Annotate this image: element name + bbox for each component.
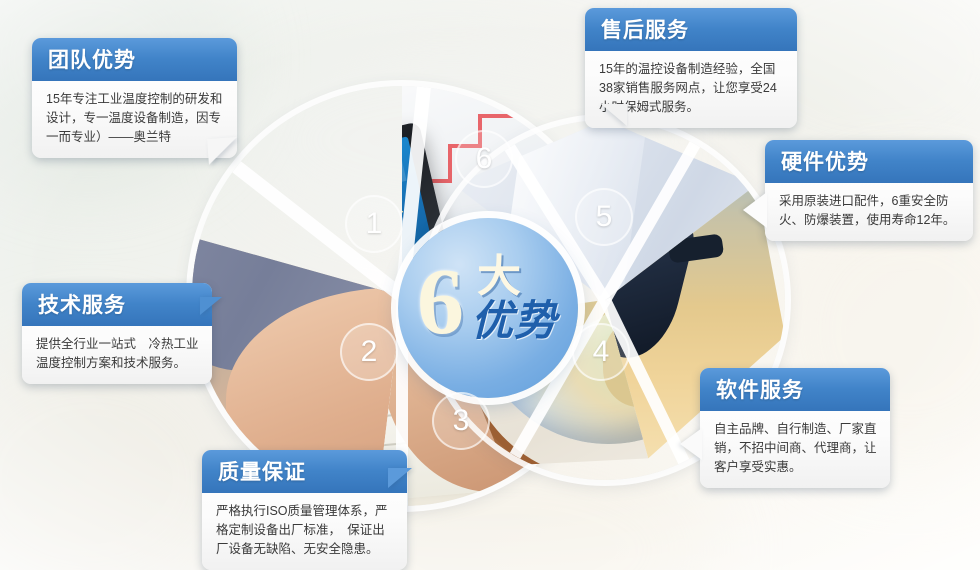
badge-number-4[interactable]: 4 — [572, 323, 630, 381]
badge-label: 1 — [366, 207, 383, 241]
screen-header-bar — [248, 146, 401, 189]
badge-label: 2 — [361, 335, 378, 369]
callout-hardware-body: 采用原装进口配件，6重安全防火、防爆装置，使用寿命12年。 — [765, 183, 973, 241]
badge-number-2[interactable]: 2 — [340, 323, 398, 381]
callout-software-body: 自主品牌、自行制造、厂家直销，不招中间商、代理商，让客户享受实惠。 — [700, 411, 890, 488]
callout-hardware-advantage[interactable]: 硬件优势 采用原装进口配件，6重安全防火、防爆装置，使用寿命12年。 — [765, 140, 973, 241]
center-logo-inner: 6 大 优势 — [413, 253, 563, 363]
callout-technical-service[interactable]: 技术服务 提供全行业一站式 冷热工业温度控制方案和技术服务。 — [22, 283, 212, 384]
center-number: 6 — [417, 255, 464, 349]
callout-after-sales-title: 售后服务 — [585, 8, 797, 51]
badge-label: 6 — [476, 142, 493, 176]
callout-hardware-tail — [743, 192, 767, 228]
badge-number-3[interactable]: 3 — [432, 392, 490, 450]
callout-software-tail — [680, 428, 702, 460]
screen-side-panel — [340, 158, 407, 194]
callout-team-body: 15年专注工业温度控制的研发和设计，专一温度设备制造，因专一而专业）——奥兰特 — [32, 81, 237, 158]
callout-after-sales-tail — [601, 104, 627, 126]
callout-team-title: 团队优势 — [32, 38, 237, 81]
callout-software-service[interactable]: 软件服务 自主品牌、自行制造、厂家直销，不招中间商、代理商，让客户享受实惠。 — [700, 368, 890, 488]
badge-label: 5 — [596, 200, 613, 234]
callout-software-title: 软件服务 — [700, 368, 890, 411]
badge-number-1[interactable]: 1 — [345, 195, 403, 253]
badge-number-6[interactable]: 6 — [455, 130, 513, 188]
center-big-char: 大 — [477, 255, 521, 299]
callout-after-sales[interactable]: 售后服务 15年的温控设备制造经验，全国38家销售服务网点，让您享受24小时保姆… — [585, 8, 797, 128]
callout-quality-assurance[interactable]: 质量保证 严格执行ISO质量管理体系，严格定制设备出厂标准， 保证出厂设备无缺陷… — [202, 450, 407, 570]
callout-quality-body: 严格执行ISO质量管理体系，严格定制设备出厂标准， 保证出厂设备无缺陷、无安全隐… — [202, 493, 407, 570]
callout-quality-tail — [388, 468, 412, 488]
callout-technical-body: 提供全行业一站式 冷热工业温度控制方案和技术服务。 — [22, 326, 212, 384]
callout-technical-tail — [200, 297, 222, 315]
callout-quality-title: 质量保证 — [202, 450, 407, 493]
callout-team-tail — [207, 137, 239, 165]
badge-label: 4 — [593, 335, 610, 369]
callout-technical-title: 技术服务 — [22, 283, 212, 326]
callout-hardware-title: 硬件优势 — [765, 140, 973, 183]
screen-ticker-label: INTC — [260, 219, 279, 230]
badge-label: 3 — [453, 404, 470, 438]
screen-text-line — [265, 237, 296, 246]
badge-number-5[interactable]: 5 — [575, 188, 633, 246]
callout-team-advantage[interactable]: 团队优势 15年专注工业温度控制的研发和设计，专一温度设备制造，因专一而专业）—… — [32, 38, 237, 158]
screen-text-line — [263, 228, 301, 239]
center-logo-badge: 6 大 优势 — [398, 218, 578, 398]
center-subtitle: 优势 — [471, 299, 557, 345]
